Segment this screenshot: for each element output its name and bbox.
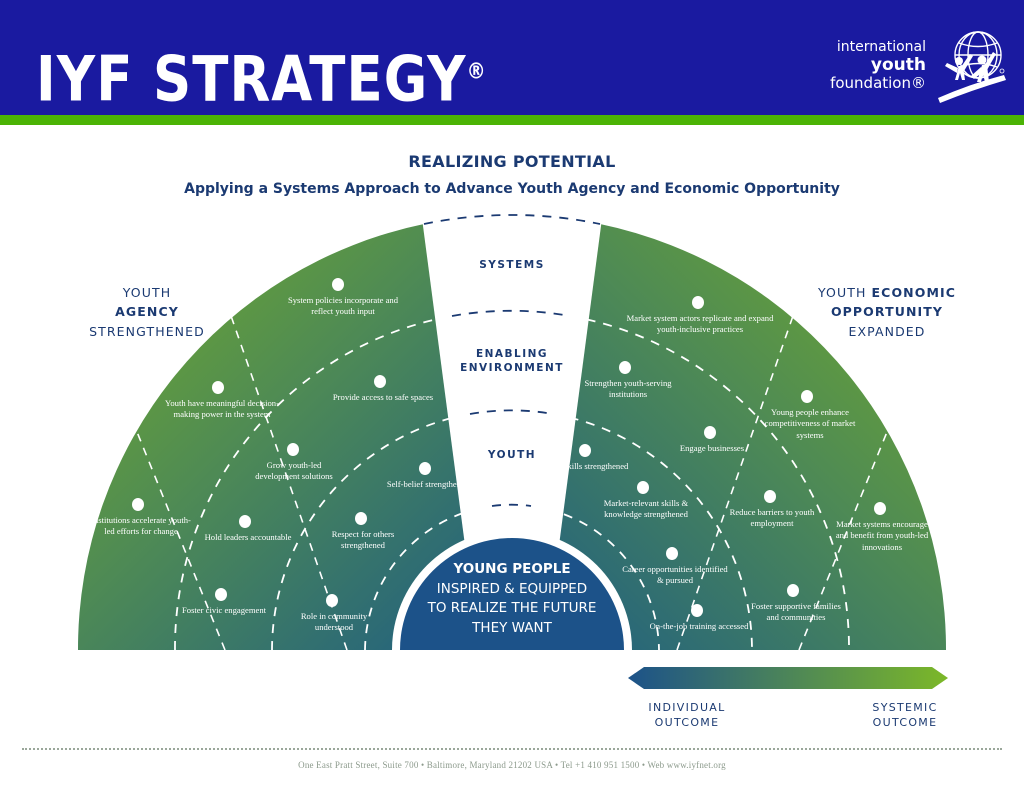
node-dot: [215, 588, 227, 601]
node-dot: [692, 296, 704, 309]
node-dot: [374, 375, 386, 388]
node-dot: [764, 490, 776, 503]
node-dot: [332, 278, 344, 291]
footer-address: One East Pratt Street, Suite 700 • Balti…: [0, 760, 1024, 770]
core-message-line-1: YOUNG PEOPLE: [397, 560, 627, 580]
node-dot: [132, 498, 144, 511]
iyf-logo: international youth foundation®: [808, 26, 1008, 106]
node-dot: [355, 512, 367, 525]
registered-mark: ®: [467, 58, 487, 84]
outcome-arrow-svg: [628, 665, 948, 691]
ring-label-youth: YOUTH: [452, 448, 572, 462]
node-dot: [287, 443, 299, 456]
header-accent-bar: [0, 115, 1024, 125]
core-message-line-2: INSPIRED & EQUIPPED: [397, 580, 627, 600]
arrow-caption-individual: INDIVIDUAL OUTCOME: [612, 700, 762, 731]
node-dot: [874, 502, 886, 515]
page-title: IYF STRATEGY®: [36, 48, 487, 111]
arrow-caption-individual-l2: OUTCOME: [612, 715, 762, 730]
node-dot: [212, 381, 224, 394]
node-dot: [239, 515, 251, 528]
node-dot: [579, 444, 591, 457]
arrow-caption-systemic-l2: OUTCOME: [830, 715, 980, 730]
ring-label-enabling-environment: ENABLING ENVIRONMENT: [432, 347, 592, 376]
node-dot: [704, 426, 716, 439]
arrow-caption-systemic: SYSTEMIC OUTCOME: [830, 700, 980, 731]
ring-label-systems: SYSTEMS: [442, 258, 582, 272]
outcome-arrow: [628, 665, 948, 691]
logo-line-2: youth: [830, 56, 926, 75]
logo-wordmark: international youth foundation®: [830, 40, 926, 92]
node-dot: [666, 547, 678, 560]
node-dot: [619, 361, 631, 374]
core-message-line-3: TO REALIZE THE FUTURE: [397, 599, 627, 619]
arrow-caption-individual-l1: INDIVIDUAL: [612, 700, 762, 715]
logo-line-1: international: [830, 40, 926, 56]
logo-line-3: foundation®: [830, 75, 926, 92]
node-dot: [326, 594, 338, 607]
infographic-subtitle: Applying a Systems Approach to Advance Y…: [0, 181, 1024, 197]
core-message-line-4: THEY WANT: [397, 619, 627, 639]
ring-label-enabling-env-line2: ENVIRONMENT: [432, 361, 592, 375]
globe-people-icon: [930, 28, 1008, 106]
page-header: IYF STRATEGY® international youth founda…: [0, 0, 1024, 115]
outer-dome-dash: [424, 215, 600, 224]
footer-divider: [22, 748, 1002, 750]
node-dot: [787, 584, 799, 597]
ring-divider-arcs-center: [452, 311, 570, 506]
core-message: YOUNG PEOPLE INSPIRED & EQUIPPED TO REAL…: [397, 560, 627, 638]
node-dot: [691, 604, 703, 617]
arrow-caption-systemic-l1: SYSTEMIC: [830, 700, 980, 715]
node-dot: [419, 462, 431, 475]
node-dot: [801, 390, 813, 403]
node-dot: [637, 481, 649, 494]
infographic-title: REALIZING POTENTIAL: [0, 152, 1024, 171]
page-title-text: IYF STRATEGY: [36, 43, 467, 116]
ring-label-enabling-env-line1: ENABLING: [432, 347, 592, 361]
